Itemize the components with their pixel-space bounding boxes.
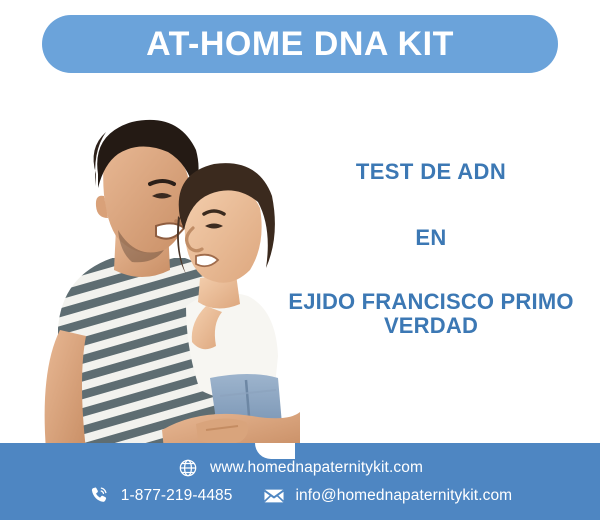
footer-row-phone-email: 1-877-219-4485 info@homednapaternitykit.… xyxy=(88,485,512,507)
email-item[interactable]: info@homednapaternitykit.com xyxy=(263,485,513,507)
headline-block: TEST DE ADN EN EJIDO FRANCISCO PRIMO VER… xyxy=(262,160,600,338)
header-pill-banner: AT-HOME DNA KIT xyxy=(42,15,558,73)
phone-text: 1-877-219-4485 xyxy=(121,487,233,505)
website-item[interactable]: www.homednapaternitykit.com xyxy=(177,457,423,479)
envelope-icon xyxy=(263,485,285,507)
footer-row-website: www.homednapaternitykit.com xyxy=(177,457,423,479)
family-photo xyxy=(0,78,300,450)
family-photo-illustration xyxy=(0,78,300,450)
headline-service: TEST DE ADN xyxy=(262,160,600,184)
headline-preposition: EN xyxy=(262,226,600,250)
poster-canvas: AT-HOME DNA KIT xyxy=(0,0,600,520)
phone-item[interactable]: 1-877-219-4485 xyxy=(88,485,233,507)
phone-icon xyxy=(88,485,110,507)
website-text: www.homednapaternitykit.com xyxy=(210,459,423,477)
globe-icon xyxy=(177,457,199,479)
email-text: info@homednapaternitykit.com xyxy=(296,487,513,505)
page-title: AT-HOME DNA KIT xyxy=(146,27,454,61)
headline-location: EJIDO FRANCISCO PRIMO VERDAD xyxy=(262,290,600,338)
footer-contact-rows: www.homednapaternitykit.com 1-877-219-44… xyxy=(0,443,600,520)
